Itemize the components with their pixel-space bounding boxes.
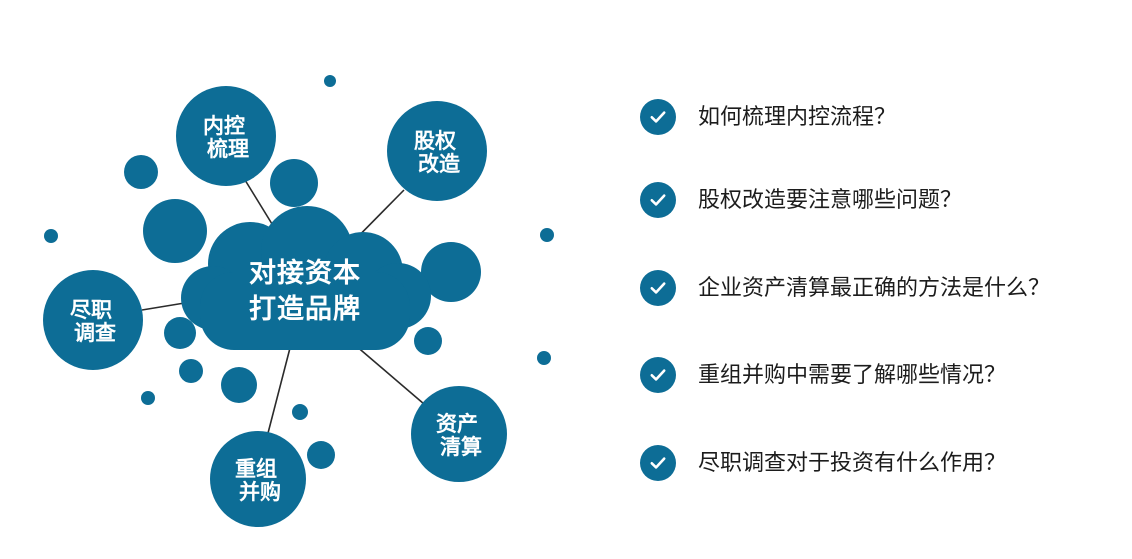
check-circle-icon xyxy=(640,445,676,481)
decorative-dot xyxy=(164,317,196,349)
node-internal-control[interactable]: 内控梳理 xyxy=(176,86,276,186)
infographic-page: 内控梳理股权改造尽职调查资产清算重组并购 对接资本打造品牌 如何梳理内控流程？股… xyxy=(0,0,1132,559)
node-restructuring-label-line2: 并购 xyxy=(239,480,281,504)
node-asset-liquidation-label-line2: 清算 xyxy=(440,435,482,459)
mindmap-diagram: 内控梳理股权改造尽职调查资产清算重组并购 对接资本打造品牌 xyxy=(0,0,600,559)
center-cloud-title-line2: 打造品牌 xyxy=(249,294,361,324)
node-asset-liquidation-label-line1: 资产 xyxy=(436,412,478,436)
node-equity-reform-label-line2: 改造 xyxy=(418,152,461,176)
checklist-item[interactable]: 重组并购中需要了解哪些情况？ xyxy=(640,356,1006,394)
checklist-item[interactable]: 企业资产清算最正确的方法是什么？ xyxy=(640,269,1050,307)
checklist-item-label: 股权改造要注意哪些问题？ xyxy=(698,189,962,211)
node-restructuring-label-line1: 重组 xyxy=(235,457,277,481)
node-restructuring[interactable]: 重组并购 xyxy=(210,431,306,527)
checklist-item[interactable]: 尽职调查对于投资有什么作用？ xyxy=(640,444,1006,482)
node-due-diligence[interactable]: 尽职调查 xyxy=(43,270,143,370)
checklist-item-label: 如何梳理内控流程？ xyxy=(698,106,896,128)
decorative-dot xyxy=(221,367,257,403)
center-cloud-group[interactable]: 对接资本打造品牌 xyxy=(181,206,431,350)
node-due-diligence-label-line1: 尽职 xyxy=(70,299,112,322)
decorative-dot xyxy=(179,359,203,383)
decorative-dot xyxy=(270,159,318,207)
node-due-diligence-label-line2: 调查 xyxy=(74,321,116,345)
decorative-dot xyxy=(141,391,155,405)
decorative-dot xyxy=(324,75,336,87)
node-internal-control-label-line1: 内控 xyxy=(203,114,245,138)
node-internal-control-label-line2: 梳理 xyxy=(207,137,249,161)
check-circle-icon xyxy=(640,99,676,135)
check-circle-icon xyxy=(640,182,676,218)
decorative-dot xyxy=(143,199,207,263)
connector-asset-liquidation xyxy=(355,345,424,404)
decorative-dot xyxy=(124,155,158,189)
checklist-item-label: 重组并购中需要了解哪些情况？ xyxy=(698,364,1006,386)
checklist-item-label: 尽职调查对于投资有什么作用？ xyxy=(698,452,1006,474)
questions-checklist: 如何梳理内控流程？股权改造要注意哪些问题？企业资产清算最正确的方法是什么？重组并… xyxy=(620,0,1132,559)
checklist-item[interactable]: 如何梳理内控流程？ xyxy=(640,98,896,136)
decorative-dot xyxy=(307,441,335,469)
center-cloud-title-line1: 对接资本 xyxy=(249,258,361,288)
check-circle-icon xyxy=(640,270,676,306)
decorative-dot xyxy=(44,229,58,243)
decorative-dot xyxy=(537,351,551,365)
check-circle-icon xyxy=(640,357,676,393)
decorative-dot xyxy=(414,327,442,355)
connector-restructuring xyxy=(267,348,290,437)
checklist-item-label: 企业资产清算最正确的方法是什么？ xyxy=(698,277,1050,299)
node-equity-reform-label-line1: 股权 xyxy=(414,130,456,153)
checklist-item[interactable]: 股权改造要注意哪些问题？ xyxy=(640,181,962,219)
mindmap-canvas: 内控梳理股权改造尽职调查资产清算重组并购 对接资本打造品牌 xyxy=(0,0,600,559)
decorative-dot xyxy=(540,228,554,242)
decorative-dot xyxy=(292,404,308,420)
node-equity-reform[interactable]: 股权改造 xyxy=(387,101,487,201)
center-cloud[interactable]: 对接资本打造品牌 xyxy=(181,206,431,350)
node-asset-liquidation[interactable]: 资产清算 xyxy=(411,386,507,482)
